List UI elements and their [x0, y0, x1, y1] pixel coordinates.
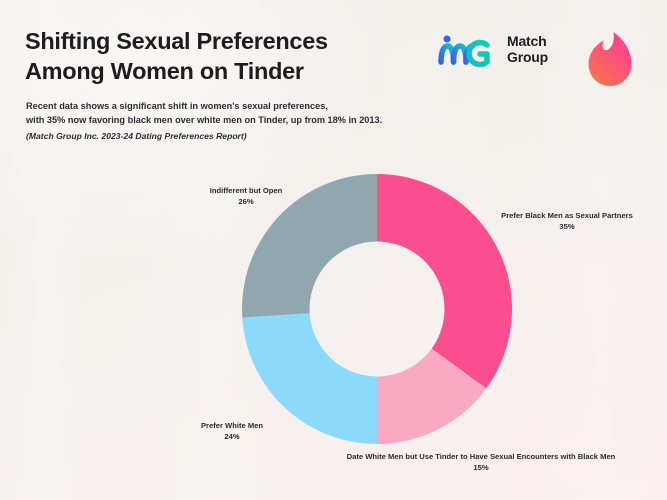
slice-label-prefer-black-men: Prefer Black Men as Sexual Partners 35%	[472, 211, 662, 233]
slice-label-prefer-white-men: Prefer White Men 24%	[152, 421, 312, 443]
source-citation: (Match Group Inc. 2023-24 Dating Prefere…	[26, 131, 446, 141]
page-title: Shifting Sexual Preferences Among Women …	[25, 27, 425, 87]
slice-label-percent: 24%	[152, 432, 312, 443]
match-group-dot-icon	[444, 36, 451, 43]
slice-label-text: Prefer White Men	[201, 421, 263, 430]
match-group-wordmark: Match Group	[507, 34, 548, 65]
infographic-canvas: Shifting Sexual Preferences Among Women …	[0, 0, 667, 500]
slice-label-date-white-men: Date White Men but Use Tinder to Have Se…	[302, 452, 660, 474]
slice-label-percent: 26%	[166, 197, 326, 208]
tinder-flame-icon	[583, 30, 637, 88]
slice-label-text: Date White Men but Use Tinder to Have Se…	[347, 452, 616, 461]
donut-slice[interactable]	[377, 174, 512, 388]
match-group-logo: Match Group	[437, 33, 548, 67]
slice-label-percent: 15%	[302, 463, 660, 474]
slice-label-text: Prefer Black Men as Sexual Partners	[501, 211, 633, 220]
slice-label-percent: 35%	[472, 222, 662, 233]
match-group-mark-icon	[437, 33, 499, 67]
subtitle-text: Recent data shows a significant shift in…	[26, 100, 446, 128]
slice-label-text: Indifferent but Open	[210, 186, 283, 195]
mg-g-icon	[469, 43, 487, 65]
slice-label-indifferent-but-open: Indifferent but Open 26%	[166, 186, 326, 208]
